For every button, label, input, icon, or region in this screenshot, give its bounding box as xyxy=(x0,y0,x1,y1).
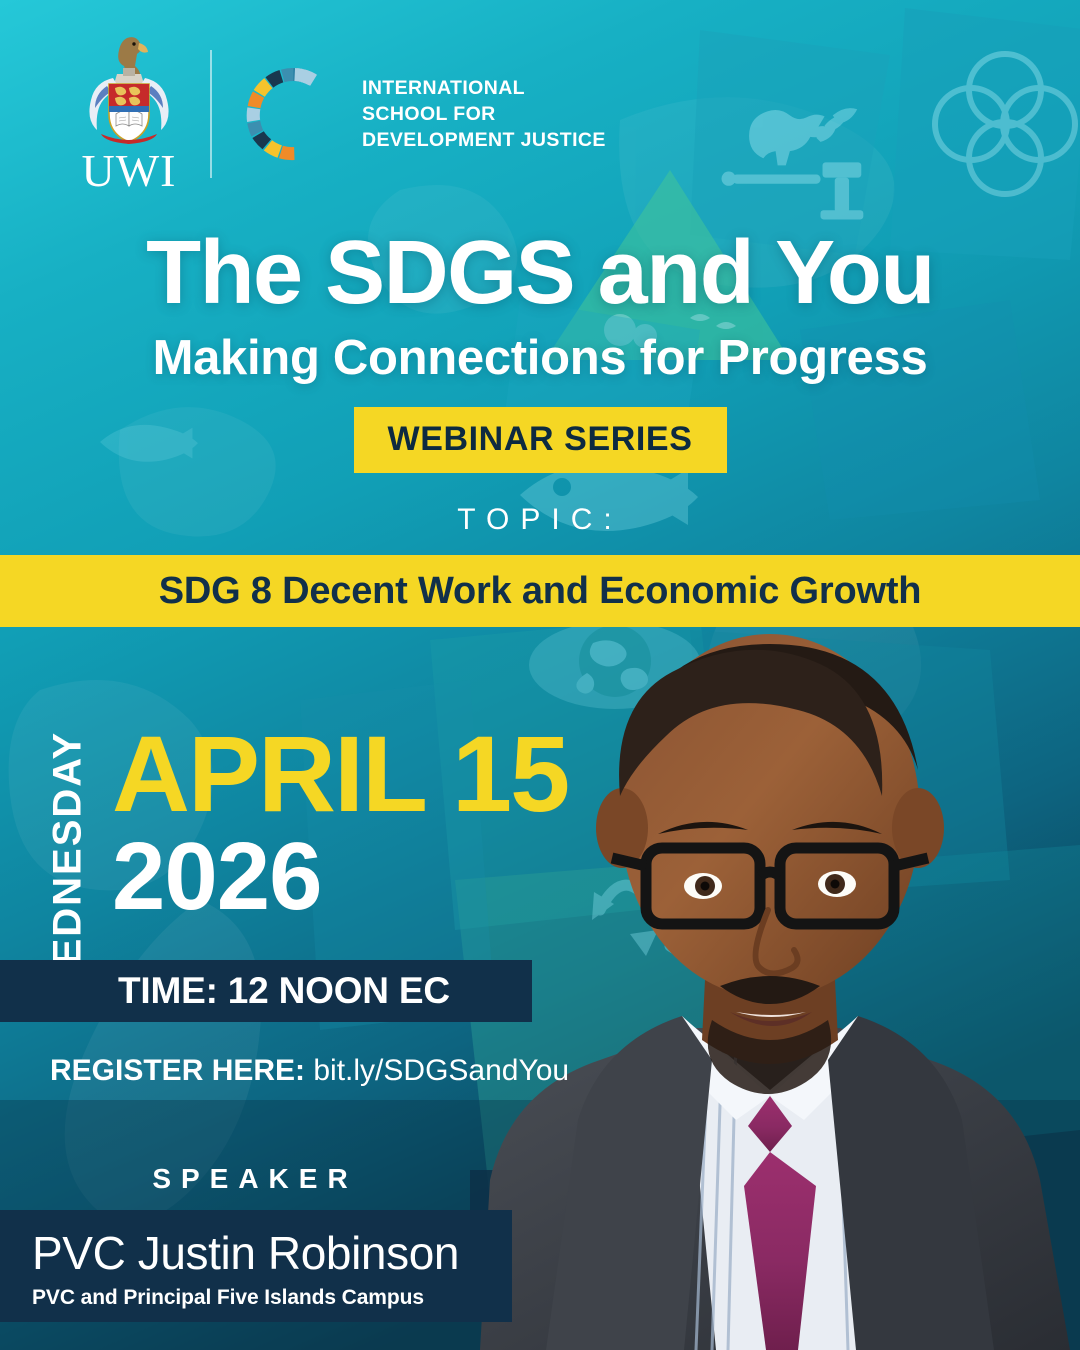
isdj-line-3: DEVELOPMENT JUSTICE xyxy=(362,127,606,153)
event-date: APRIL 15 xyxy=(112,724,568,823)
uwi-wordmark: UWI xyxy=(82,148,177,194)
speaker-label: SPEAKER xyxy=(152,1163,357,1194)
event-time-box: TIME: 12 NOON EC xyxy=(0,960,532,1022)
page-title: The SDGS and You xyxy=(0,228,1080,318)
webinar-flyer: UWI xyxy=(0,0,1080,1350)
register-url[interactable]: bit.ly/SDGSandYou xyxy=(313,1054,569,1087)
speaker-label-wrap: SPEAKER xyxy=(0,1163,510,1195)
webinar-series-badge: WEBINAR SERIES xyxy=(354,407,727,473)
webinar-badge-wrap: WEBINAR SERIES xyxy=(0,407,1080,473)
topic-label: TOPIC: xyxy=(457,503,622,536)
sdg-wheel-icon xyxy=(238,59,348,169)
event-date-block: APRIL 15 2026 xyxy=(112,724,568,923)
page-subtitle: Making Connections for Progress xyxy=(0,332,1080,386)
isdj-line-1: INTERNATIONAL xyxy=(362,75,606,101)
uwi-pelican-crest-icon xyxy=(79,34,179,146)
isdj-line-2: SCHOOL FOR xyxy=(362,101,606,127)
isdj-wordmark: INTERNATIONAL SCHOOL FOR DEVELOPMENT JUS… xyxy=(362,75,606,153)
title-block: The SDGS and You Making Connections for … xyxy=(0,228,1080,386)
isdj-logo: INTERNATIONAL SCHOOL FOR DEVELOPMENT JUS… xyxy=(238,59,606,169)
header-logos: UWI xyxy=(70,34,606,194)
register-line[interactable]: REGISTER HERE: bit.ly/SDGSandYou xyxy=(50,1053,569,1089)
register-prefix: REGISTER HERE: xyxy=(50,1054,305,1087)
topic-label-wrap: TOPIC: xyxy=(0,503,1080,537)
event-time: TIME: 12 NOON EC xyxy=(118,970,450,1012)
speaker-name: PVC Justin Robinson xyxy=(32,1226,512,1280)
speaker-role: PVC and Principal Five Islands Campus xyxy=(32,1286,512,1310)
uwi-logo: UWI xyxy=(70,34,188,194)
event-year: 2026 xyxy=(112,831,568,922)
speaker-info-bar: PVC Justin Robinson PVC and Principal Fi… xyxy=(0,1210,512,1322)
topic-band: SDG 8 Decent Work and Economic Growth xyxy=(0,555,1080,627)
vertical-divider xyxy=(210,50,212,178)
topic-value: SDG 8 Decent Work and Economic Growth xyxy=(159,570,922,613)
